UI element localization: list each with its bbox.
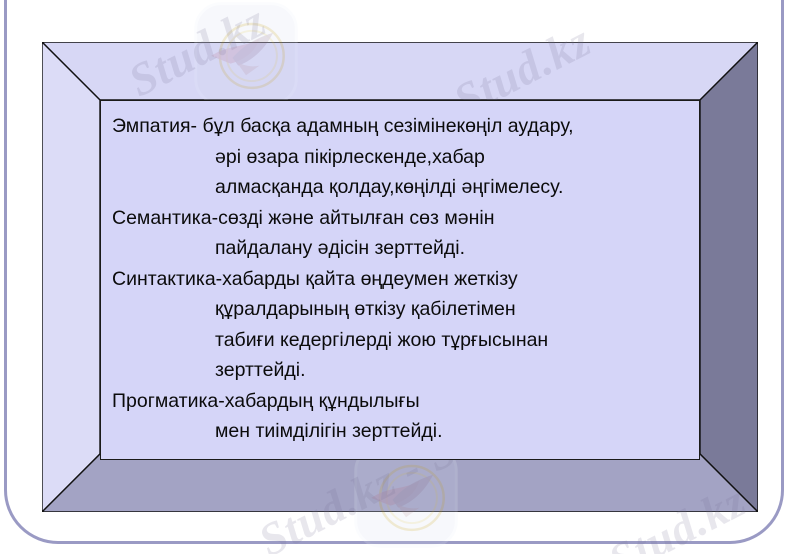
frame-bottom-face xyxy=(42,454,758,512)
text-line: табиғи кедергілерді жою тұрғысынан xyxy=(112,325,693,356)
content-panel: Эмпатия- бұл басқа адамның сезімінекөңіл… xyxy=(100,100,700,460)
content-panel-text-block: Эмпатия- бұл басқа адамның сезімінекөңіл… xyxy=(101,101,699,447)
frame-top-face xyxy=(42,42,758,100)
text-line: алмасқанда қолдау,көңілді әңгімелесу. xyxy=(112,172,693,203)
slide-canvas: Эмпатия- бұл басқа адамның сезімінекөңіл… xyxy=(0,0,800,554)
text-line: Семантика-сөзді және айтылған сөз мәнін xyxy=(112,203,693,234)
text-line: Прогматика-хабардың құндылығы xyxy=(112,386,693,417)
text-line: зерттейді. xyxy=(112,355,693,386)
frame-right-face xyxy=(700,42,758,512)
frame-left-face xyxy=(42,42,100,512)
text-line: құралдарының өткізу қабілетімен xyxy=(112,294,693,325)
text-line: Синтактика-хабарды қайта өңдеумен жеткіз… xyxy=(112,264,693,295)
text-line: пайдалану әдісін зерттейді. xyxy=(112,233,693,264)
text-line: әрі өзара пікірлескенде,хабар xyxy=(112,142,693,173)
text-line: Эмпатия- бұл басқа адамның сезімінекөңіл… xyxy=(112,111,693,142)
text-line: мен тиімділігін зерттейді. xyxy=(112,416,693,447)
